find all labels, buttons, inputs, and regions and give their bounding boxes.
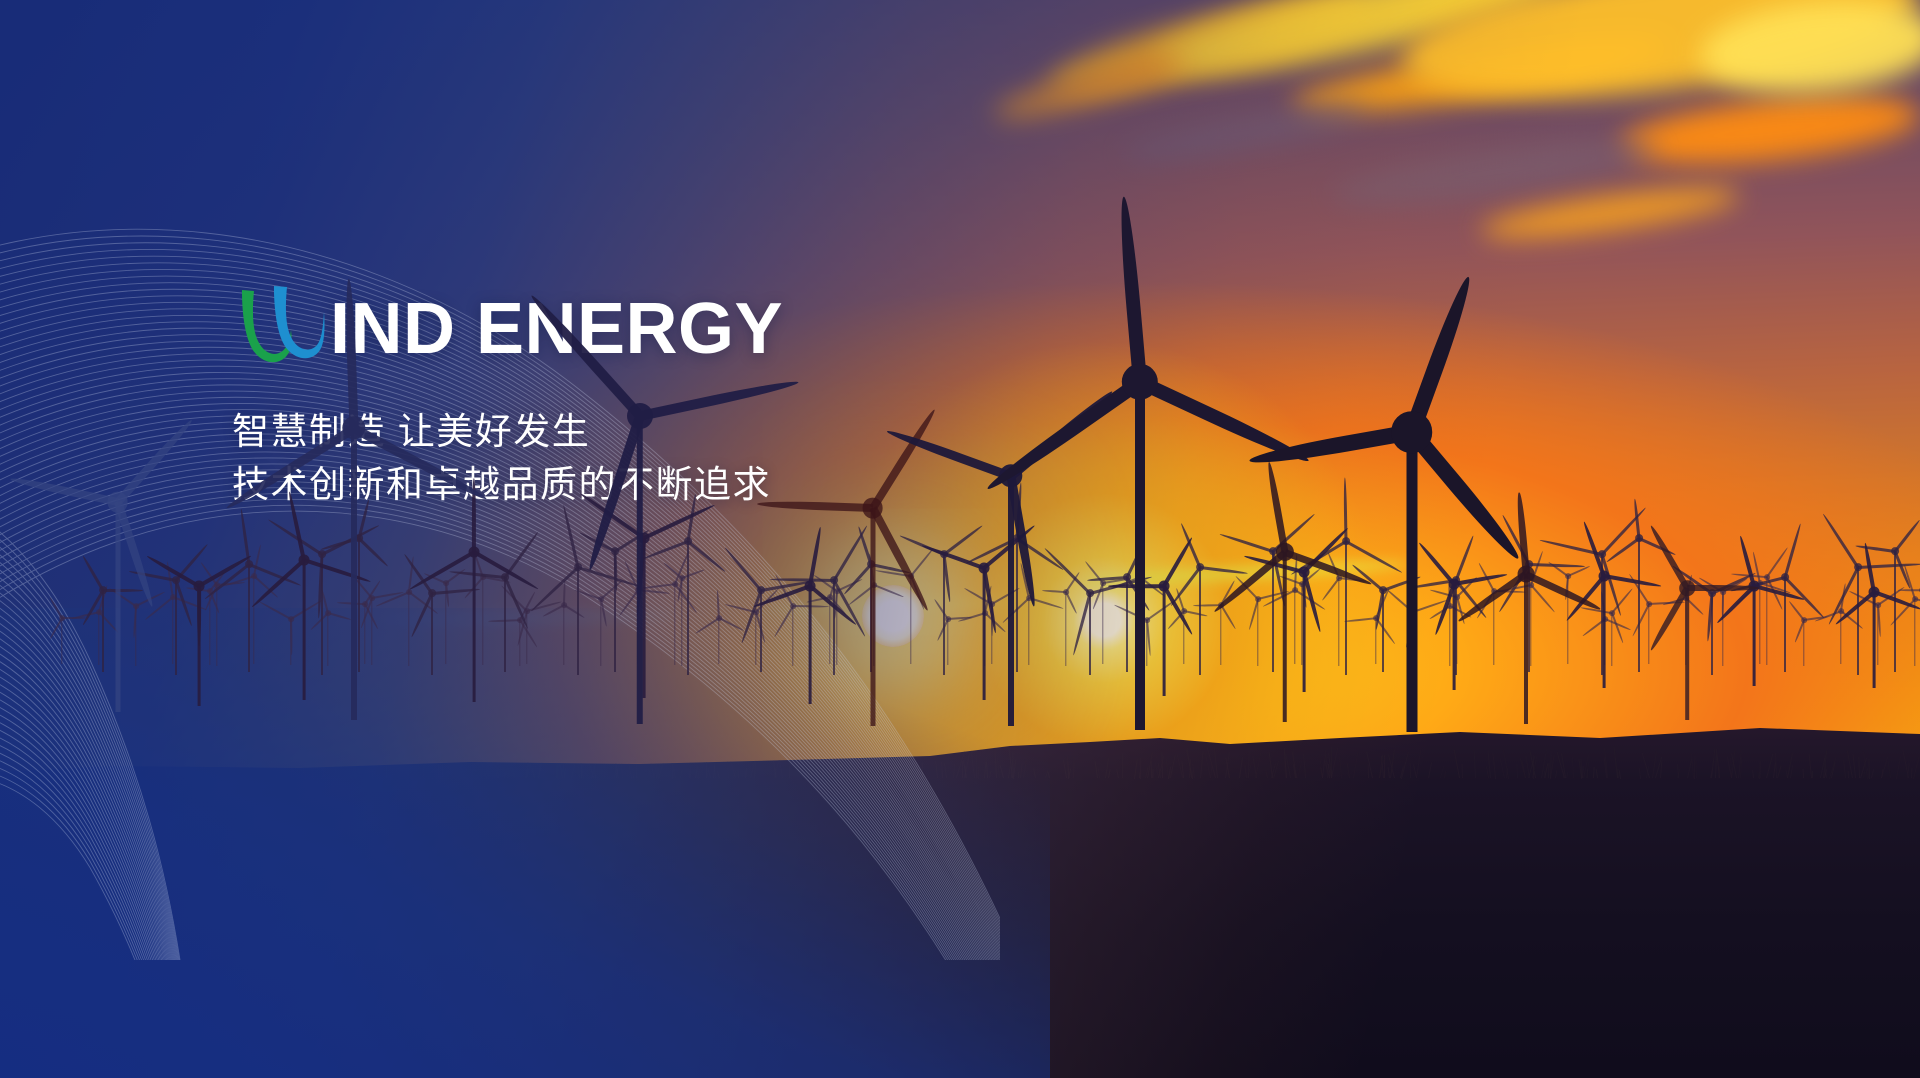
brand-lockup: IND ENERGY <box>232 288 1132 370</box>
hero-banner: IND ENERGY 智慧制造 让美好发生 技术创新和卓越品质的不断追求 <box>0 0 1920 1078</box>
tagline-group: 智慧制造 让美好发生 技术创新和卓越品质的不断追求 <box>232 406 1132 511</box>
wind-w-logo-icon <box>232 286 328 372</box>
